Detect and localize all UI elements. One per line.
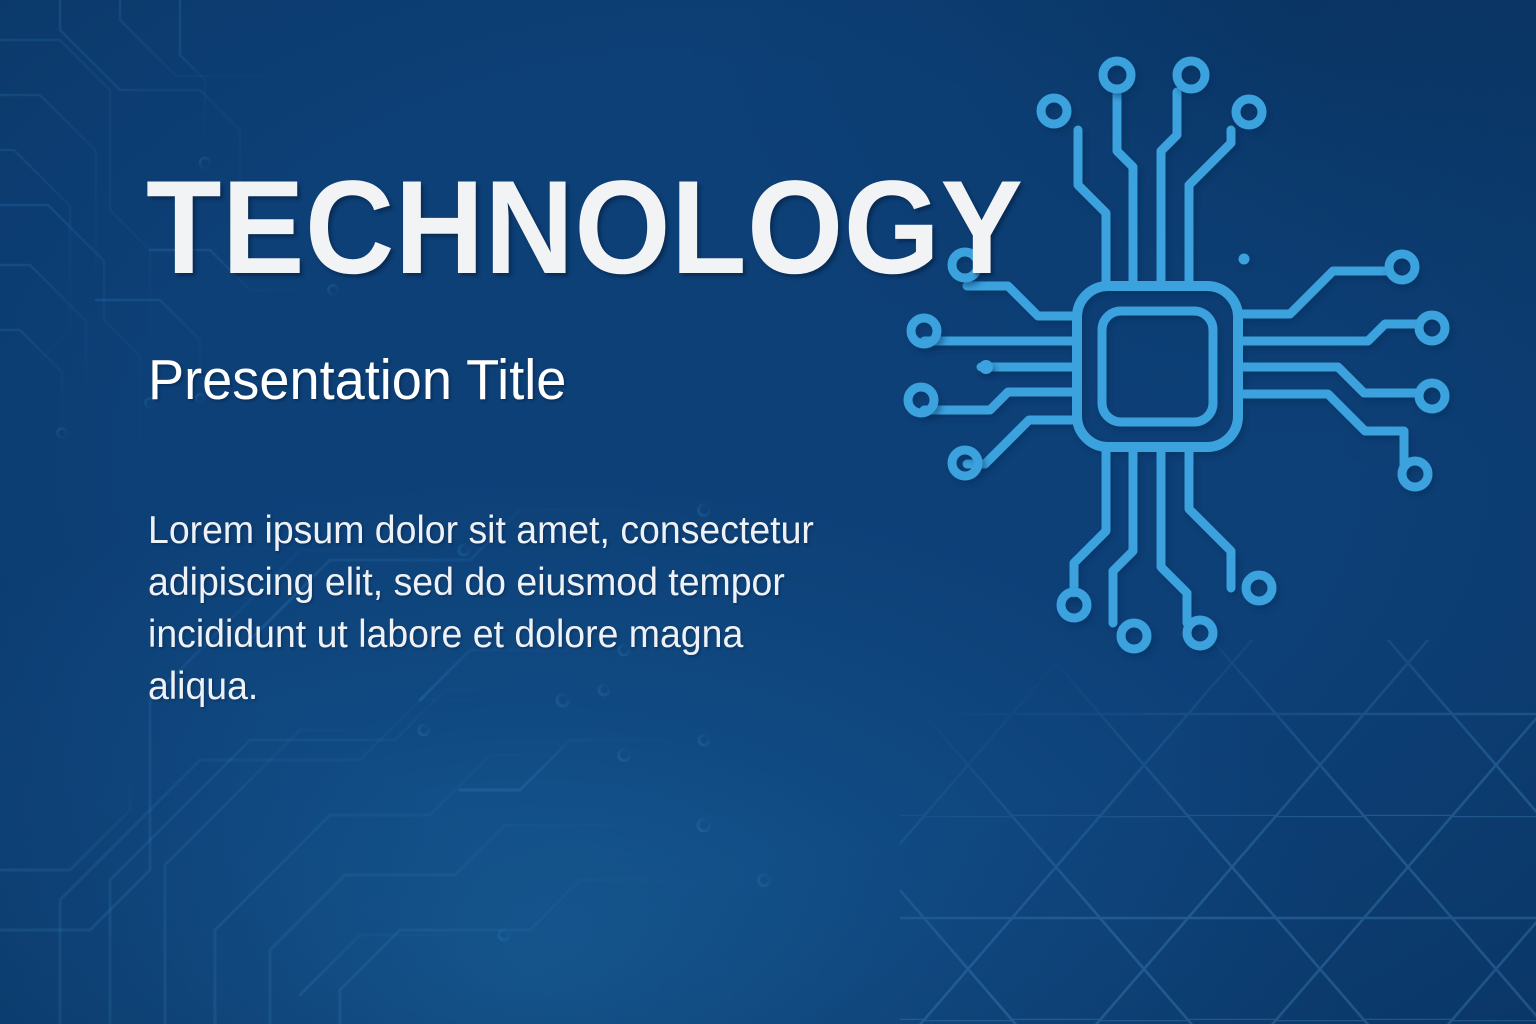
slide-title: TECHNOLOGY — [146, 162, 1023, 295]
slide-subtitle: Presentation Title — [148, 352, 566, 409]
slide-text-block: TECHNOLOGY Presentation Title Lorem ipsu… — [146, 0, 906, 1024]
slide-body-text: Lorem ipsum dolor sit amet, consectetur … — [148, 505, 858, 713]
presentation-slide: TECHNOLOGY Presentation Title Lorem ipsu… — [0, 0, 1536, 1024]
